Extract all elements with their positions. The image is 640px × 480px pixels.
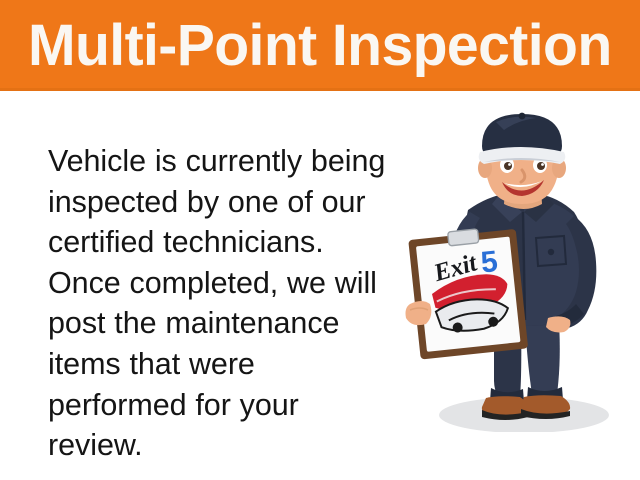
clipboard-clip xyxy=(448,229,479,246)
technician-illustration: Exit 5 xyxy=(396,112,640,432)
page-title: Multi-Point Inspection xyxy=(28,15,612,77)
header-banner: Multi-Point Inspection xyxy=(0,0,640,91)
left-hand xyxy=(406,301,432,325)
right-hand xyxy=(546,316,570,332)
right-shoe xyxy=(521,395,570,419)
cap-button xyxy=(519,113,526,120)
clipboard: Exit 5 xyxy=(408,225,528,360)
body-paragraph: Vehicle is currently being inspected by … xyxy=(48,141,400,466)
logo-five-text: 5 xyxy=(479,245,499,280)
slide-canvas: Multi-Point Inspection Vehicle is curren… xyxy=(0,0,640,480)
pocket-button xyxy=(548,249,554,255)
